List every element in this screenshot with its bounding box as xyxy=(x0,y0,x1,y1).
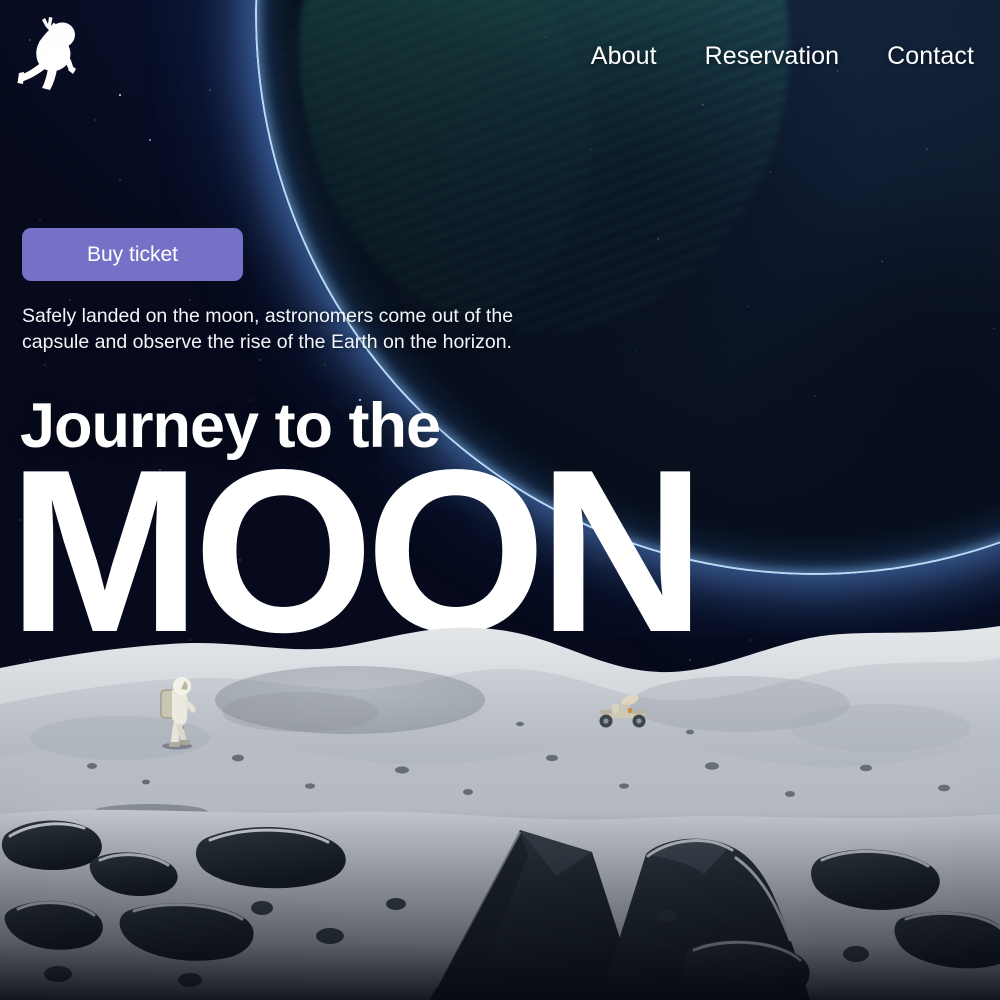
nav-link-reservation[interactable]: Reservation xyxy=(705,42,840,71)
nav-link-about[interactable]: About xyxy=(591,42,657,71)
nav-link-contact[interactable]: Contact xyxy=(887,42,974,71)
hero-paragraph: Safely landed on the moon, astronomers c… xyxy=(22,303,522,355)
lunar-surface xyxy=(0,608,1000,1000)
main-navigation: About Reservation Contact xyxy=(591,42,974,71)
hero-page: About Reservation Contact Buy ticket Saf… xyxy=(0,0,1000,1000)
page-title-line1: Journey to the xyxy=(20,390,440,462)
buy-ticket-button[interactable]: Buy ticket xyxy=(22,228,243,281)
astronaut-logo-icon[interactable] xyxy=(16,14,82,90)
lunar-rover-figure xyxy=(592,694,654,730)
astronaut-figure xyxy=(155,672,199,750)
